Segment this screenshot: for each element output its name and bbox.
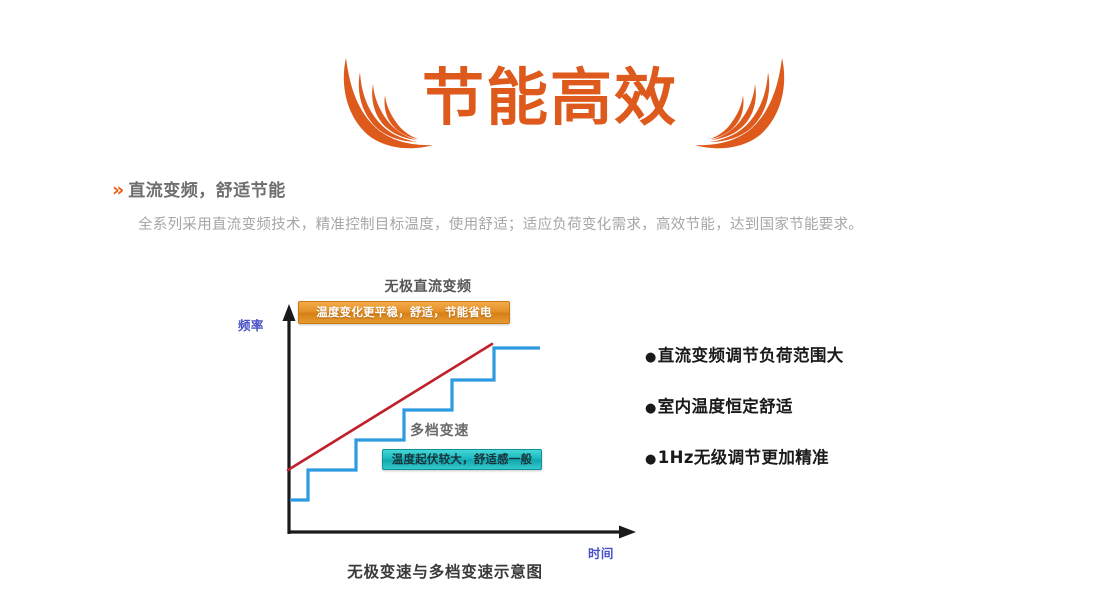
chart-caption: 无极变速与多档变速示意图 (285, 560, 605, 582)
chart-plot-area (230, 268, 650, 568)
x-axis (288, 526, 636, 539)
feature-label: 直流变频调节负荷范围大 (658, 342, 844, 366)
list-item: ● 1Hz无级调节更加精准 (645, 444, 975, 468)
callout-fluctuating: 温度起伏较大，舒适感一般 (382, 449, 542, 470)
list-item: ● 直流变频调节负荷范围大 (645, 342, 975, 366)
feature-list: ● 直流变频调节负荷范围大 ● 室内温度恒定舒适 ● 1Hz无级调节更加精准 (645, 342, 975, 495)
feature-label: 1Hz无级调节更加精准 (658, 444, 829, 468)
section-heading-label: 直流变频，舒适节能 (128, 176, 286, 201)
series-label-step: 多档变速 (410, 420, 469, 440)
page-title: 节能高效 (0, 46, 1100, 150)
double-chevron-right-icon: » (112, 181, 121, 200)
bullet-icon: ● (645, 351, 657, 364)
list-item: ● 室内温度恒定舒适 (645, 393, 975, 417)
section-body-text: 全系列采用直流变频技术，精准控制目标温度，使用舒适；适应负荷变化需求，高效节能，… (138, 212, 988, 238)
title-banner: 节能高效 (0, 46, 1100, 156)
wheat-flourish-right-icon (688, 50, 798, 154)
bullet-icon: ● (645, 453, 657, 466)
frequency-vs-time-chart: 无极直流变频 温度变化更平稳，舒适，节能省电 频率 时间 多档变速 温度起伏较大… (230, 268, 650, 588)
section-heading: » 直流变频，舒适节能 (112, 176, 286, 201)
feature-label: 室内温度恒定舒适 (658, 393, 793, 417)
bullet-icon: ● (645, 402, 657, 415)
